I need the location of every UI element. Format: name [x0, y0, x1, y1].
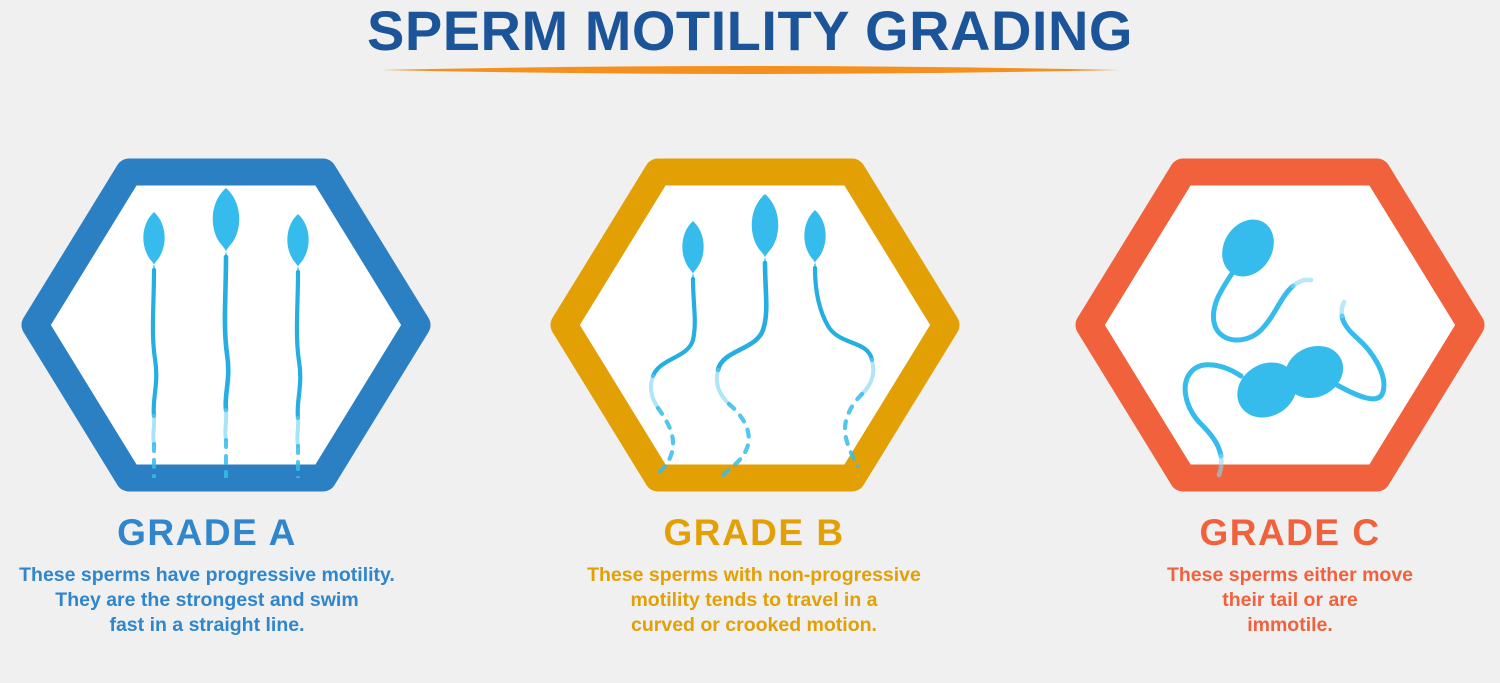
infographic-page: SPERM MOTILITY GRADING — [0, 0, 1500, 683]
grade-c-label: GRADE C — [1199, 514, 1380, 551]
page-title: SPERM MOTILITY GRADING — [0, 0, 1500, 61]
hexagon-badge-b — [550, 144, 960, 506]
title-divider — [0, 60, 1500, 80]
grade-card-b[interactable]: GRADE B These sperms with non-progressiv… — [500, 140, 1000, 638]
grade-c-illustration — [1060, 140, 1500, 510]
grade-card-a[interactable]: GRADE A These sperms have progressive mo… — [0, 140, 500, 638]
grade-a-description: These sperms have progressive motility. … — [19, 563, 395, 638]
grade-b-description: These sperms with non-progressive motili… — [587, 563, 921, 638]
lens-divider-icon — [380, 62, 1120, 78]
hexagon-badge-a — [21, 144, 431, 506]
header: SPERM MOTILITY GRADING — [0, 0, 1500, 95]
grade-b-illustration — [535, 140, 975, 510]
grade-b-label: GRADE B — [663, 514, 844, 551]
grade-card-c[interactable]: GRADE C These sperms either move their t… — [1000, 140, 1500, 638]
grade-a-illustration — [6, 140, 446, 510]
hexagon-badge-c — [1075, 144, 1485, 506]
hexagon-outline-c — [1089, 172, 1471, 478]
grade-cards-row: GRADE A These sperms have progressive mo… — [0, 140, 1500, 683]
grade-c-description: These sperms either move their tail or a… — [1167, 563, 1413, 638]
grade-a-label: GRADE A — [117, 514, 297, 551]
